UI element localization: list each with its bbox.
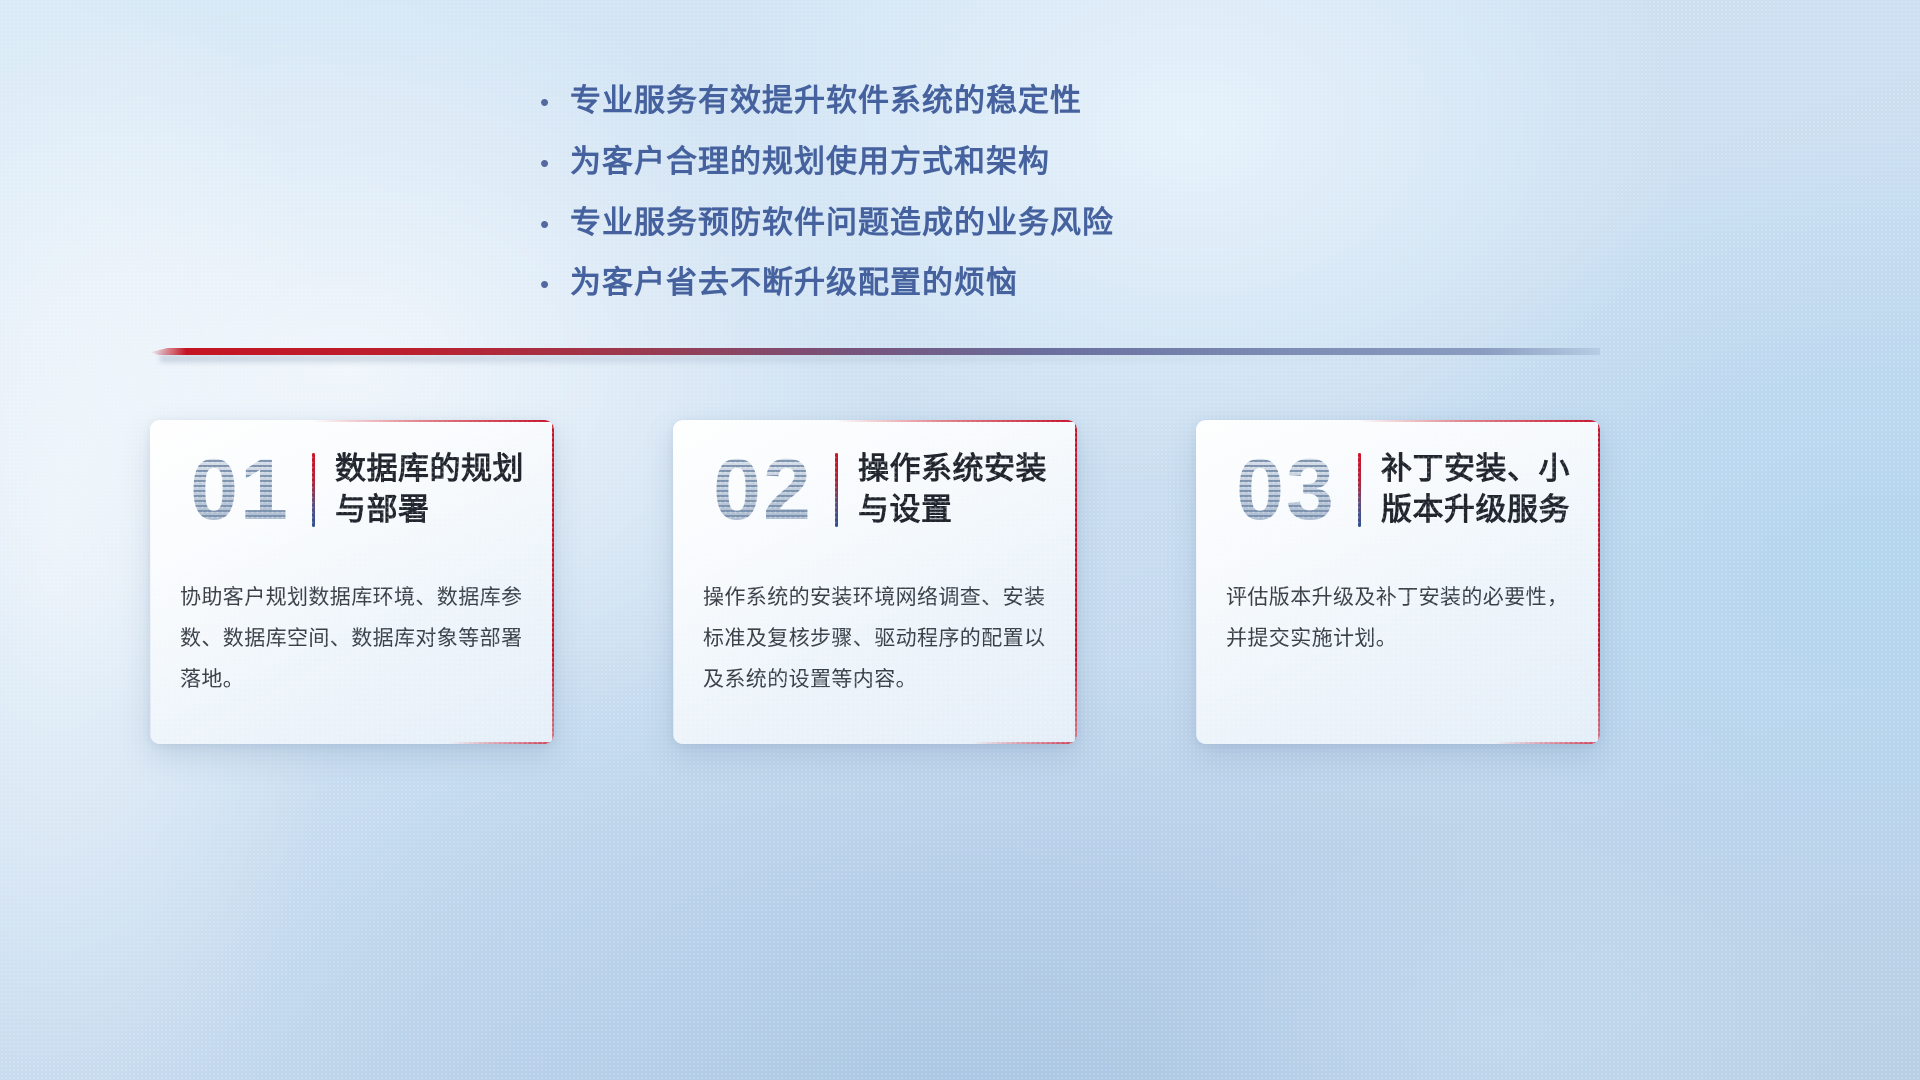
card-header: 01 数据库的规划与部署	[150, 420, 554, 560]
card-body-text: 评估版本升级及补丁安装的必要性，并提交实施计划。	[1196, 560, 1600, 660]
benefits-bullet-list: • 专业服务有效提升软件系统的稳定性 • 为客户合理的规划使用方式和架构 • 专…	[540, 82, 1540, 325]
list-item: • 为客户省去不断升级配置的烦恼	[540, 264, 1540, 303]
card-bottom-accent	[449, 742, 554, 744]
divider-shadow	[160, 355, 1596, 362]
bullet-text: 为客户省去不断升级配置的烦恼	[570, 264, 1018, 303]
card-divider-icon	[835, 453, 838, 527]
service-card-03[interactable]: 03 补丁安装、小版本升级服务 评估版本升级及补丁安装的必要性，并提交实施计划。	[1196, 420, 1600, 744]
section-divider	[150, 348, 1600, 364]
bullet-dot-icon: •	[540, 89, 570, 115]
card-number: 03	[1216, 440, 1356, 540]
bullet-dot-icon: •	[540, 211, 570, 237]
card-number: 02	[693, 440, 833, 540]
card-divider-icon	[1358, 453, 1361, 527]
card-header: 03 补丁安装、小版本升级服务	[1196, 420, 1600, 560]
card-number: 01	[170, 440, 310, 540]
card-title: 数据库的规划与部署	[335, 449, 540, 531]
list-item: • 专业服务预防软件问题造成的业务风险	[540, 204, 1540, 243]
service-card-02[interactable]: 02 操作系统安装与设置 操作系统的安装环境网络调查、安装标准及复核步骤、驱动程…	[673, 420, 1077, 744]
service-card-group: 01 数据库的规划与部署 协助客户规划数据库环境、数据库参数、数据库空间、数据库…	[150, 420, 1600, 744]
card-body-text: 协助客户规划数据库环境、数据库参数、数据库空间、数据库对象等部署落地。	[150, 560, 554, 701]
bullet-text: 专业服务预防软件问题造成的业务风险	[570, 204, 1114, 243]
bullet-text: 为客户合理的规划使用方式和架构	[570, 143, 1050, 182]
card-header: 02 操作系统安装与设置	[673, 420, 1077, 560]
card-title: 操作系统安装与设置	[858, 449, 1063, 531]
slide-canvas: • 专业服务有效提升软件系统的稳定性 • 为客户合理的规划使用方式和架构 • 专…	[0, 0, 1920, 1080]
bullet-dot-icon: •	[540, 150, 570, 176]
list-item: • 为客户合理的规划使用方式和架构	[540, 143, 1540, 182]
bullet-dot-icon: •	[540, 271, 570, 297]
card-title: 补丁安装、小版本升级服务	[1381, 449, 1586, 531]
service-card-01[interactable]: 01 数据库的规划与部署 协助客户规划数据库环境、数据库参数、数据库空间、数据库…	[150, 420, 554, 744]
card-bottom-accent	[972, 742, 1077, 744]
divider-bar	[150, 348, 1600, 355]
card-body-text: 操作系统的安装环境网络调查、安装标准及复核步骤、驱动程序的配置以及系统的设置等内…	[673, 560, 1077, 701]
card-divider-icon	[312, 453, 315, 527]
card-bottom-accent	[1495, 742, 1600, 744]
bullet-text: 专业服务有效提升软件系统的稳定性	[570, 82, 1082, 121]
list-item: • 专业服务有效提升软件系统的稳定性	[540, 82, 1540, 121]
